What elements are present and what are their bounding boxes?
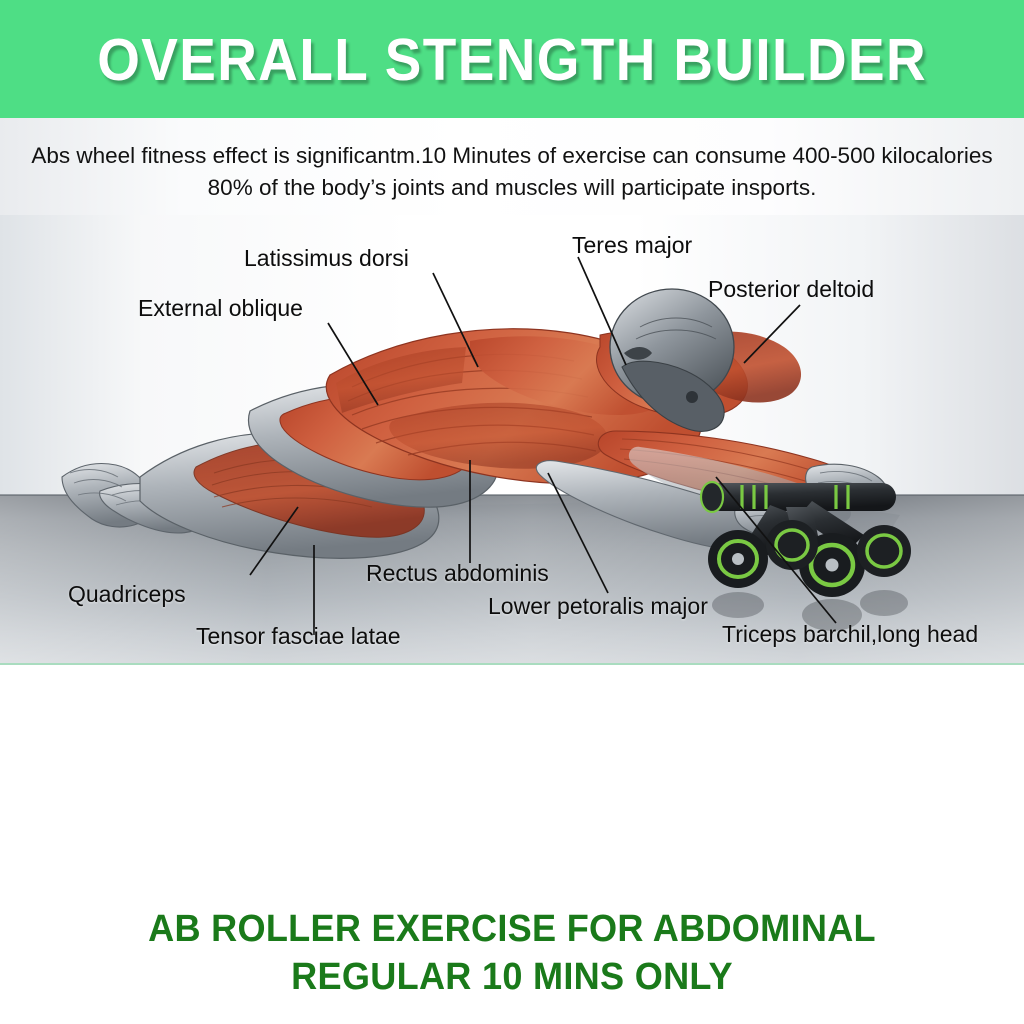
footer-line-2: REGULAR 10 MINS ONLY [26,953,999,1001]
label-teres-major: Teres major [572,234,692,257]
description-block: Abs wheel fitness effect is significantm… [0,118,1024,218]
label-lower-pectoralis: Lower petoralis major [488,595,708,618]
anatomy-photo: Latissimus dorsi Teres major External ob… [0,215,1024,665]
eye [686,391,698,403]
header-banner: OVERALL STENGTH BUILDER [0,0,1024,118]
photo-bottom-separator [0,663,1024,665]
roller-handle [706,483,896,511]
footer-caption: AB ROLLER EXERCISE FOR ABDOMINAL REGULAR… [0,905,1024,1015]
label-tensor-fasciae-latae: Tensor fasciae latae [196,625,401,648]
roller-wheel-rear-left [766,520,818,570]
product-infographic: OVERALL STENGTH BUILDER Abs wheel fitnes… [0,0,1024,1024]
label-quadriceps: Quadriceps [68,583,186,606]
ab-roller-device [701,482,911,631]
roller-wheel-rear-right [857,525,911,577]
label-rectus-abdominis: Rectus abdominis [366,562,549,585]
banner-title: OVERALL STENGTH BUILDER [97,26,927,94]
handle-end-cap [701,482,723,512]
label-posterior-deltoid: Posterior deltoid [708,278,874,301]
footer-line-1: AB ROLLER EXERCISE FOR ABDOMINAL [26,905,999,953]
description-text: Abs wheel fitness effect is significantm… [18,140,1006,204]
roller-wheel-front-left [708,530,768,588]
label-triceps-long-head: Triceps barchil,long head [722,623,978,646]
description-line-1: Abs wheel fitness effect is significantm… [31,143,875,168]
label-external-oblique: External oblique [138,297,303,320]
label-latissimus-dorsi: Latissimus dorsi [244,247,409,270]
